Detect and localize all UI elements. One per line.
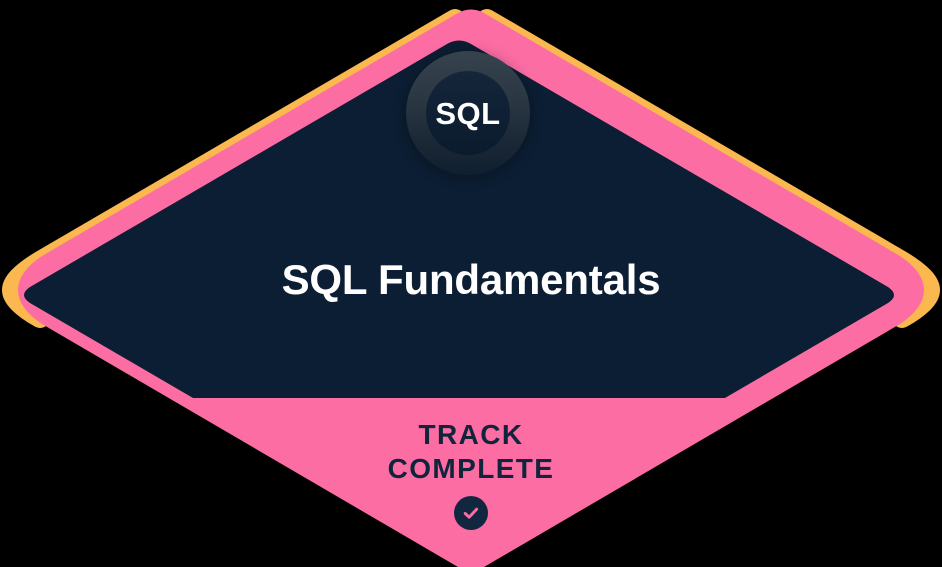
badge-canvas: SQL SQL Fundamentals TRACK COMPLETE [0,0,942,567]
check-circle-icon [454,496,488,530]
sql-emblem-label: SQL [435,98,500,129]
badge-title: SQL Fundamentals [0,256,942,303]
check-mark-icon [460,502,482,524]
track-status-label: TRACK COMPLETE [0,418,942,486]
sql-emblem-circle: SQL [406,51,530,175]
track-status-block: TRACK COMPLETE [0,418,942,530]
sql-emblem-inner-circle: SQL [426,71,510,155]
